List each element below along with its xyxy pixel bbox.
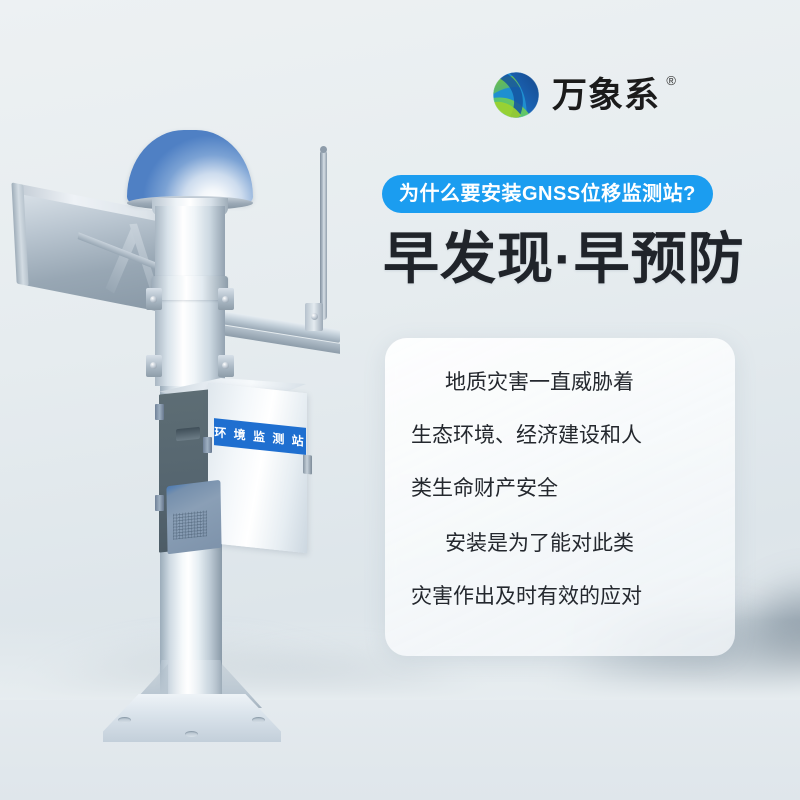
enclosure-hinge	[203, 437, 212, 453]
bolt	[222, 362, 229, 369]
enclosure-front	[208, 383, 307, 553]
base-plate-bolt-hole	[118, 717, 131, 723]
bolt	[150, 362, 157, 369]
enclosure-vent	[176, 427, 200, 442]
gnss-dome-antenna	[127, 130, 253, 204]
base-plate-bolt-hole	[252, 717, 265, 723]
poster-canvas: 环 境 监 测 站	[0, 0, 800, 800]
info-line: 地质灾害一直威胁着	[411, 372, 709, 393]
info-card: 地质灾害一直威胁着 生态环境、经济建设和人 类生命财产安全 安装是为了能对此类 …	[385, 338, 735, 656]
info-line: 类生命财产安全	[411, 478, 709, 499]
question-banner: 为什么要安装GNSS位移监测站?	[382, 175, 713, 213]
registered-trademark-icon: ®	[666, 74, 677, 87]
mast-coupling-band	[152, 276, 228, 300]
brand-name-text: 万象系	[552, 76, 660, 115]
enclosure-lower-grille	[173, 510, 207, 540]
base-plate-bolt-hole	[185, 731, 198, 737]
bolt	[150, 296, 157, 303]
enclosure-hinge	[155, 404, 164, 420]
bolt	[222, 296, 229, 303]
brand-name: 万象系 ®	[552, 78, 660, 113]
whip-antenna-tip	[320, 146, 327, 153]
page-title: 早发现·早预防	[383, 228, 745, 291]
info-line: 生态环境、经济建设和人	[411, 425, 709, 446]
whip-antenna	[320, 150, 327, 320]
question-banner-text: 为什么要安装GNSS位移监测站?	[399, 184, 696, 204]
globe-swirl-logo-icon	[489, 68, 543, 122]
gnss-monitoring-station-illustration: 环 境 监 测 站	[0, 0, 400, 800]
info-line: 安装是为了能对此类	[411, 533, 709, 554]
enclosure-latch	[303, 455, 312, 475]
brand-logo: 万象系 ®	[489, 68, 660, 122]
bolt	[311, 313, 318, 320]
enclosure-label-text: 环 境 监 测 站	[214, 426, 305, 448]
enclosure-hinge	[155, 495, 164, 511]
info-line: 灾害作出及时有效的应对	[411, 586, 709, 607]
